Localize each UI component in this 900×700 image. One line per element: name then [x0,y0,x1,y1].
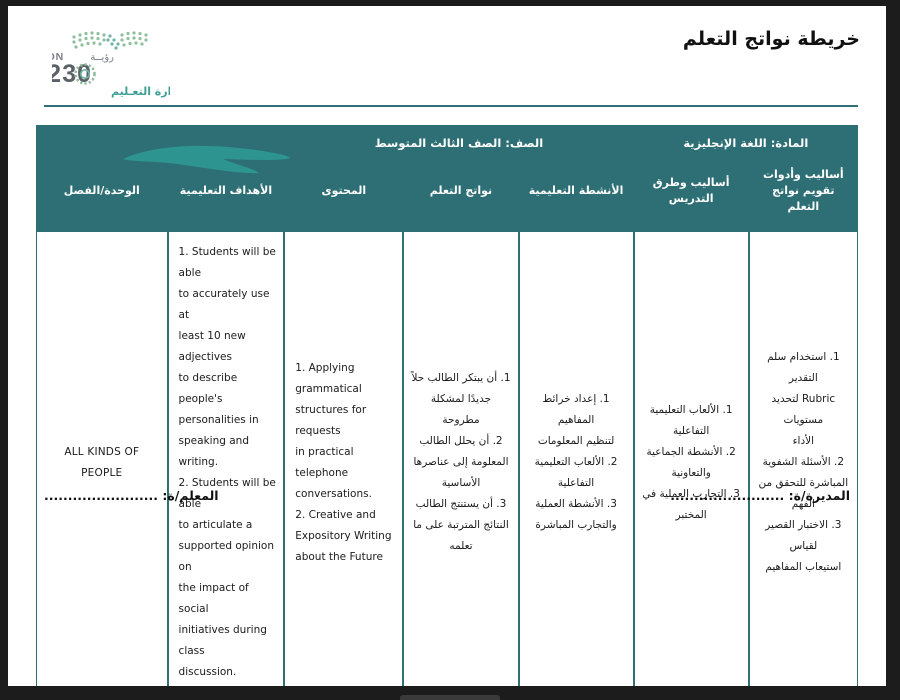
assessment-line: 2. الأسئلة الشفوية [757,452,850,473]
methods-line: 2. الأنشطة الجماعية [642,442,741,463]
content-line: in practical telephone [295,442,395,484]
taskbar-notch [400,695,500,700]
assessment-line: استيعاب المفاهيم [757,557,850,578]
svg-text:رؤيــة: رؤيــة [90,52,114,63]
cell-unit: ALL KINDS OF PEOPLE [36,231,168,686]
content-line: 1. Applying [295,358,395,379]
objectives-line: supported opinion on [179,536,277,578]
objectives-line: to articulate a [179,515,277,536]
objectives-line: personalities in [179,410,277,431]
content-line: grammatical [295,379,395,400]
cell-content: 1. Applying grammatical structures for r… [284,231,403,686]
assessment-line: الأداء [757,431,850,452]
column-header-content: المحتوى [284,159,403,231]
page-title: خريطة نواتج التعلم [683,28,860,50]
cell-outcomes: 1. أن يبتكر الطالب حلاً جديدًا لمشكلة مط… [403,231,518,686]
svg-text:30: 30 [62,60,92,88]
header-divider [44,105,858,107]
objectives-line: the impact of social [179,578,277,620]
methods-line: 1. الألعاب التعليمية [642,400,741,421]
outcomes-line: تعلمه [411,536,510,557]
learning-outcomes-table: المادة: اللغة الإنجليزية الصف: الصف الثا… [36,125,858,686]
assessment-line: Rubric لتحديد مستويات [757,389,850,431]
objectives-line: discussion. [179,662,277,683]
table-header-row: أساليب وأدوات تقويم نواتج التعلم أساليب … [36,159,858,231]
methods-line: والتعاونية [642,463,741,484]
assessment-line: 3. الاختبار القصير لقياس [757,515,850,557]
cell-objectives: 1. Students will be able to accurately u… [168,231,285,686]
outcomes-line: 1. أن يبتكر الطالب حلاً [411,368,510,389]
methods-line: التفاعلية [642,421,741,442]
meta-subject: المادة: اللغة الإنجليزية [634,125,858,159]
objectives-line: to accurately use at [179,284,277,326]
cell-methods: 1. الألعاب التعليمية التفاعلية 2. الأنشط… [634,231,749,686]
activities-line: 2. الألعاب التعليمية [527,452,626,473]
learning-outcomes-table-wrapper: المادة: اللغة الإنجليزية الصف: الصف الثا… [36,125,858,686]
objectives-line: initiatives during class [179,620,277,662]
table-meta-row: المادة: اللغة الإنجليزية الصف: الصف الثا… [36,125,858,159]
column-header-methods: أساليب وطرق التدريس [634,159,749,231]
objectives-line: 1. Students will be able [179,242,277,284]
signature-principal-dots: ........................ [670,488,784,503]
page-header: VISION رؤيــة 2 30 وزارة التعـليم خريطة … [8,6,886,106]
outcomes-line: 2. أن يحلل الطالب [411,431,510,452]
vision-2030-moe-logo: VISION رؤيــة 2 30 وزارة التعـليم [52,20,170,98]
activities-line: والتجارب المباشرة [527,515,626,536]
outcomes-line: جديدًا لمشكلة مطروحة [411,389,510,431]
column-header-activities: الأنشطة التعليمية [519,159,634,231]
table-row: 1. استخدام سلم التقدير Rubric لتحديد مست… [36,231,858,686]
activities-line: لتنظيم المعلومات [527,431,626,452]
column-header-outcomes: نواتج التعلم [403,159,518,231]
outcomes-line: المعلومة إلى عناصرها [411,452,510,473]
assessment-line: 1. استخدام سلم التقدير [757,347,850,389]
objectives-line: least 10 new adjectives [179,326,277,368]
svg-text:2: 2 [52,60,62,88]
meta-brush-cell [36,125,284,159]
column-header-unit: الوحدة/الفصل [36,159,168,231]
document-page: VISION رؤيــة 2 30 وزارة التعـليم خريطة … [8,6,886,686]
content-line: 2. Creative and [295,505,395,526]
signature-row: المعلم/ة: ........................ المدي… [44,488,850,503]
outcomes-line: النتائج المترتبة على ما [411,515,510,536]
content-line: structures for requests [295,400,395,442]
cell-activities: 1. إعداد خرائط المفاهيم لتنظيم المعلومات… [519,231,634,686]
signature-teacher-dots: ........................ [44,488,158,503]
signature-teacher: المعلم/ة: ........................ [44,488,219,503]
svg-text:وزارة التعـليم: وزارة التعـليم [111,85,170,98]
objectives-line: to describe people's [179,368,277,410]
objectives-line: speaking and writing. [179,431,277,473]
content-line: Expository Writing [295,526,395,547]
column-header-objectives: الأهداف التعليمية [168,159,285,231]
content-line: about the Future [295,547,395,568]
methods-line: المختبر [642,505,741,526]
signature-teacher-label: المعلم/ة: [162,488,218,503]
activities-line: 1. إعداد خرائط المفاهيم [527,389,626,431]
meta-grade: الصف: الصف الثالث المتوسط [284,125,633,159]
cell-assessment: 1. استخدام سلم التقدير Rubric لتحديد مست… [749,231,858,686]
signature-principal-label: المديرة/ة: [789,488,850,503]
signature-principal: المديرة/ة: ........................ [670,488,850,503]
screenshot-frame: VISION رؤيــة 2 30 وزارة التعـليم خريطة … [0,0,900,700]
column-header-assessment: أساليب وأدوات تقويم نواتج التعلم [749,159,858,231]
